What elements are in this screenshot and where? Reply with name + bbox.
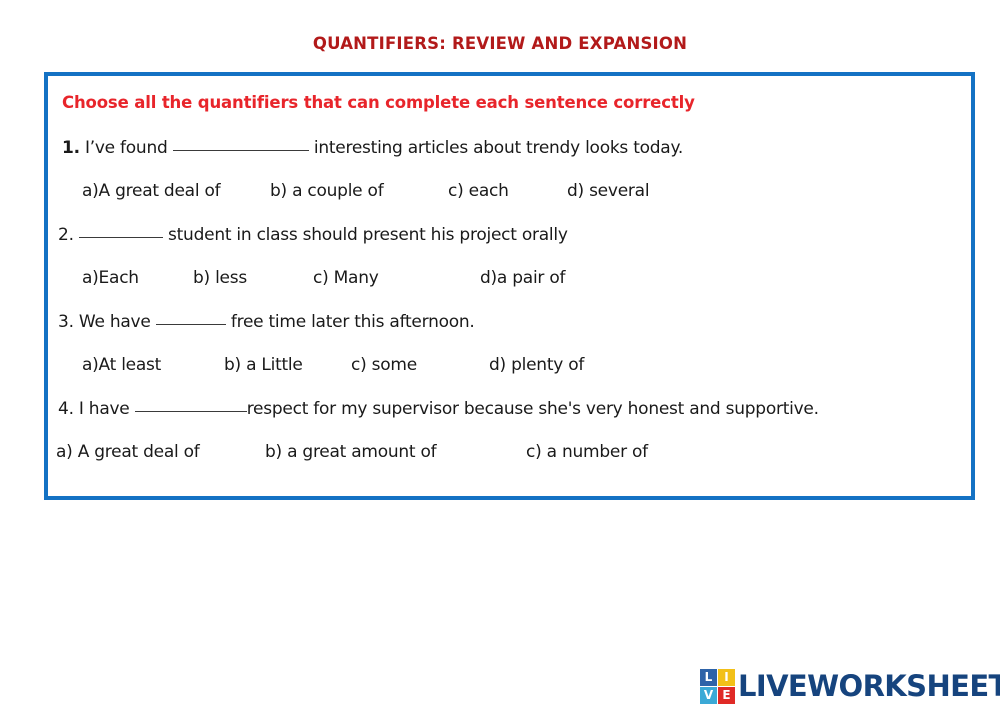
question-1-text-after: interesting articles about trendy looks … [314,138,683,158]
question-4-text-before: I have [79,399,135,419]
logo-tile-i: I [718,669,735,686]
logo-tile-e: E [718,687,735,704]
exercise-box: Choose all the quantifiers that can comp… [44,72,975,500]
question-1-blank[interactable] [173,150,309,151]
question-2-option-a[interactable]: a)Each [82,268,139,288]
question-1-option-c[interactable]: c) each [448,181,509,201]
question-2-option-d[interactable]: d)a pair of [480,268,565,288]
liveworksheets-wordmark: LIVEWORKSHEETS [738,669,1000,703]
question-4-option-b[interactable]: b) a great amount of [265,442,436,462]
question-4-line: 4. I have respect for my supervisor beca… [58,399,819,419]
question-4-blank[interactable] [135,411,247,412]
question-4-text-after: respect for my supervisor because she's … [247,399,819,419]
question-2-number: 2. [58,225,79,245]
question-2-line: 2. student in class should present his p… [58,225,568,245]
logo-tile-l: L [700,669,717,686]
page-title: QUANTIFIERS: REVIEW AND EXPANSION [0,34,1000,53]
question-3-option-c[interactable]: c) some [351,355,417,375]
question-3-number: 3. [58,312,74,332]
question-1-option-a[interactable]: a)A great deal of [82,181,220,201]
question-3-line: 3. We have free time later this afternoo… [58,312,475,332]
question-3-text-after: free time later this afternoon. [231,312,475,332]
logo-tile-v: V [700,687,717,704]
question-3-blank[interactable] [156,324,226,325]
question-1-number: 1. [62,138,80,158]
question-1-option-d[interactable]: d) several [567,181,649,201]
question-4-number: 4. [58,399,74,419]
question-2-text-after: student in class should present his proj… [168,225,568,245]
question-1-text-before: I’ve found [85,138,173,158]
question-2-option-c[interactable]: c) Many [313,268,379,288]
question-3-text-before: We have [79,312,156,332]
instruction-text: Choose all the quantifiers that can comp… [62,93,695,112]
question-3-option-d[interactable]: d) plenty of [489,355,584,375]
question-1-line: 1. I’ve found interesting articles about… [62,138,683,158]
question-4-option-a[interactable]: a) A great deal of [56,442,200,462]
liveworksheets-logo-tiles: L I V E [700,669,735,704]
liveworksheets-logo[interactable]: L I V E LIVEWORKSHEETS [700,666,1000,706]
question-2-option-b[interactable]: b) less [193,268,247,288]
question-3-option-a[interactable]: a)At least [82,355,161,375]
question-1-option-b[interactable]: b) a couple of [270,181,383,201]
question-2-blank[interactable] [79,237,163,238]
question-4-option-c[interactable]: c) a number of [526,442,648,462]
question-3-option-b[interactable]: b) a Little [224,355,303,375]
